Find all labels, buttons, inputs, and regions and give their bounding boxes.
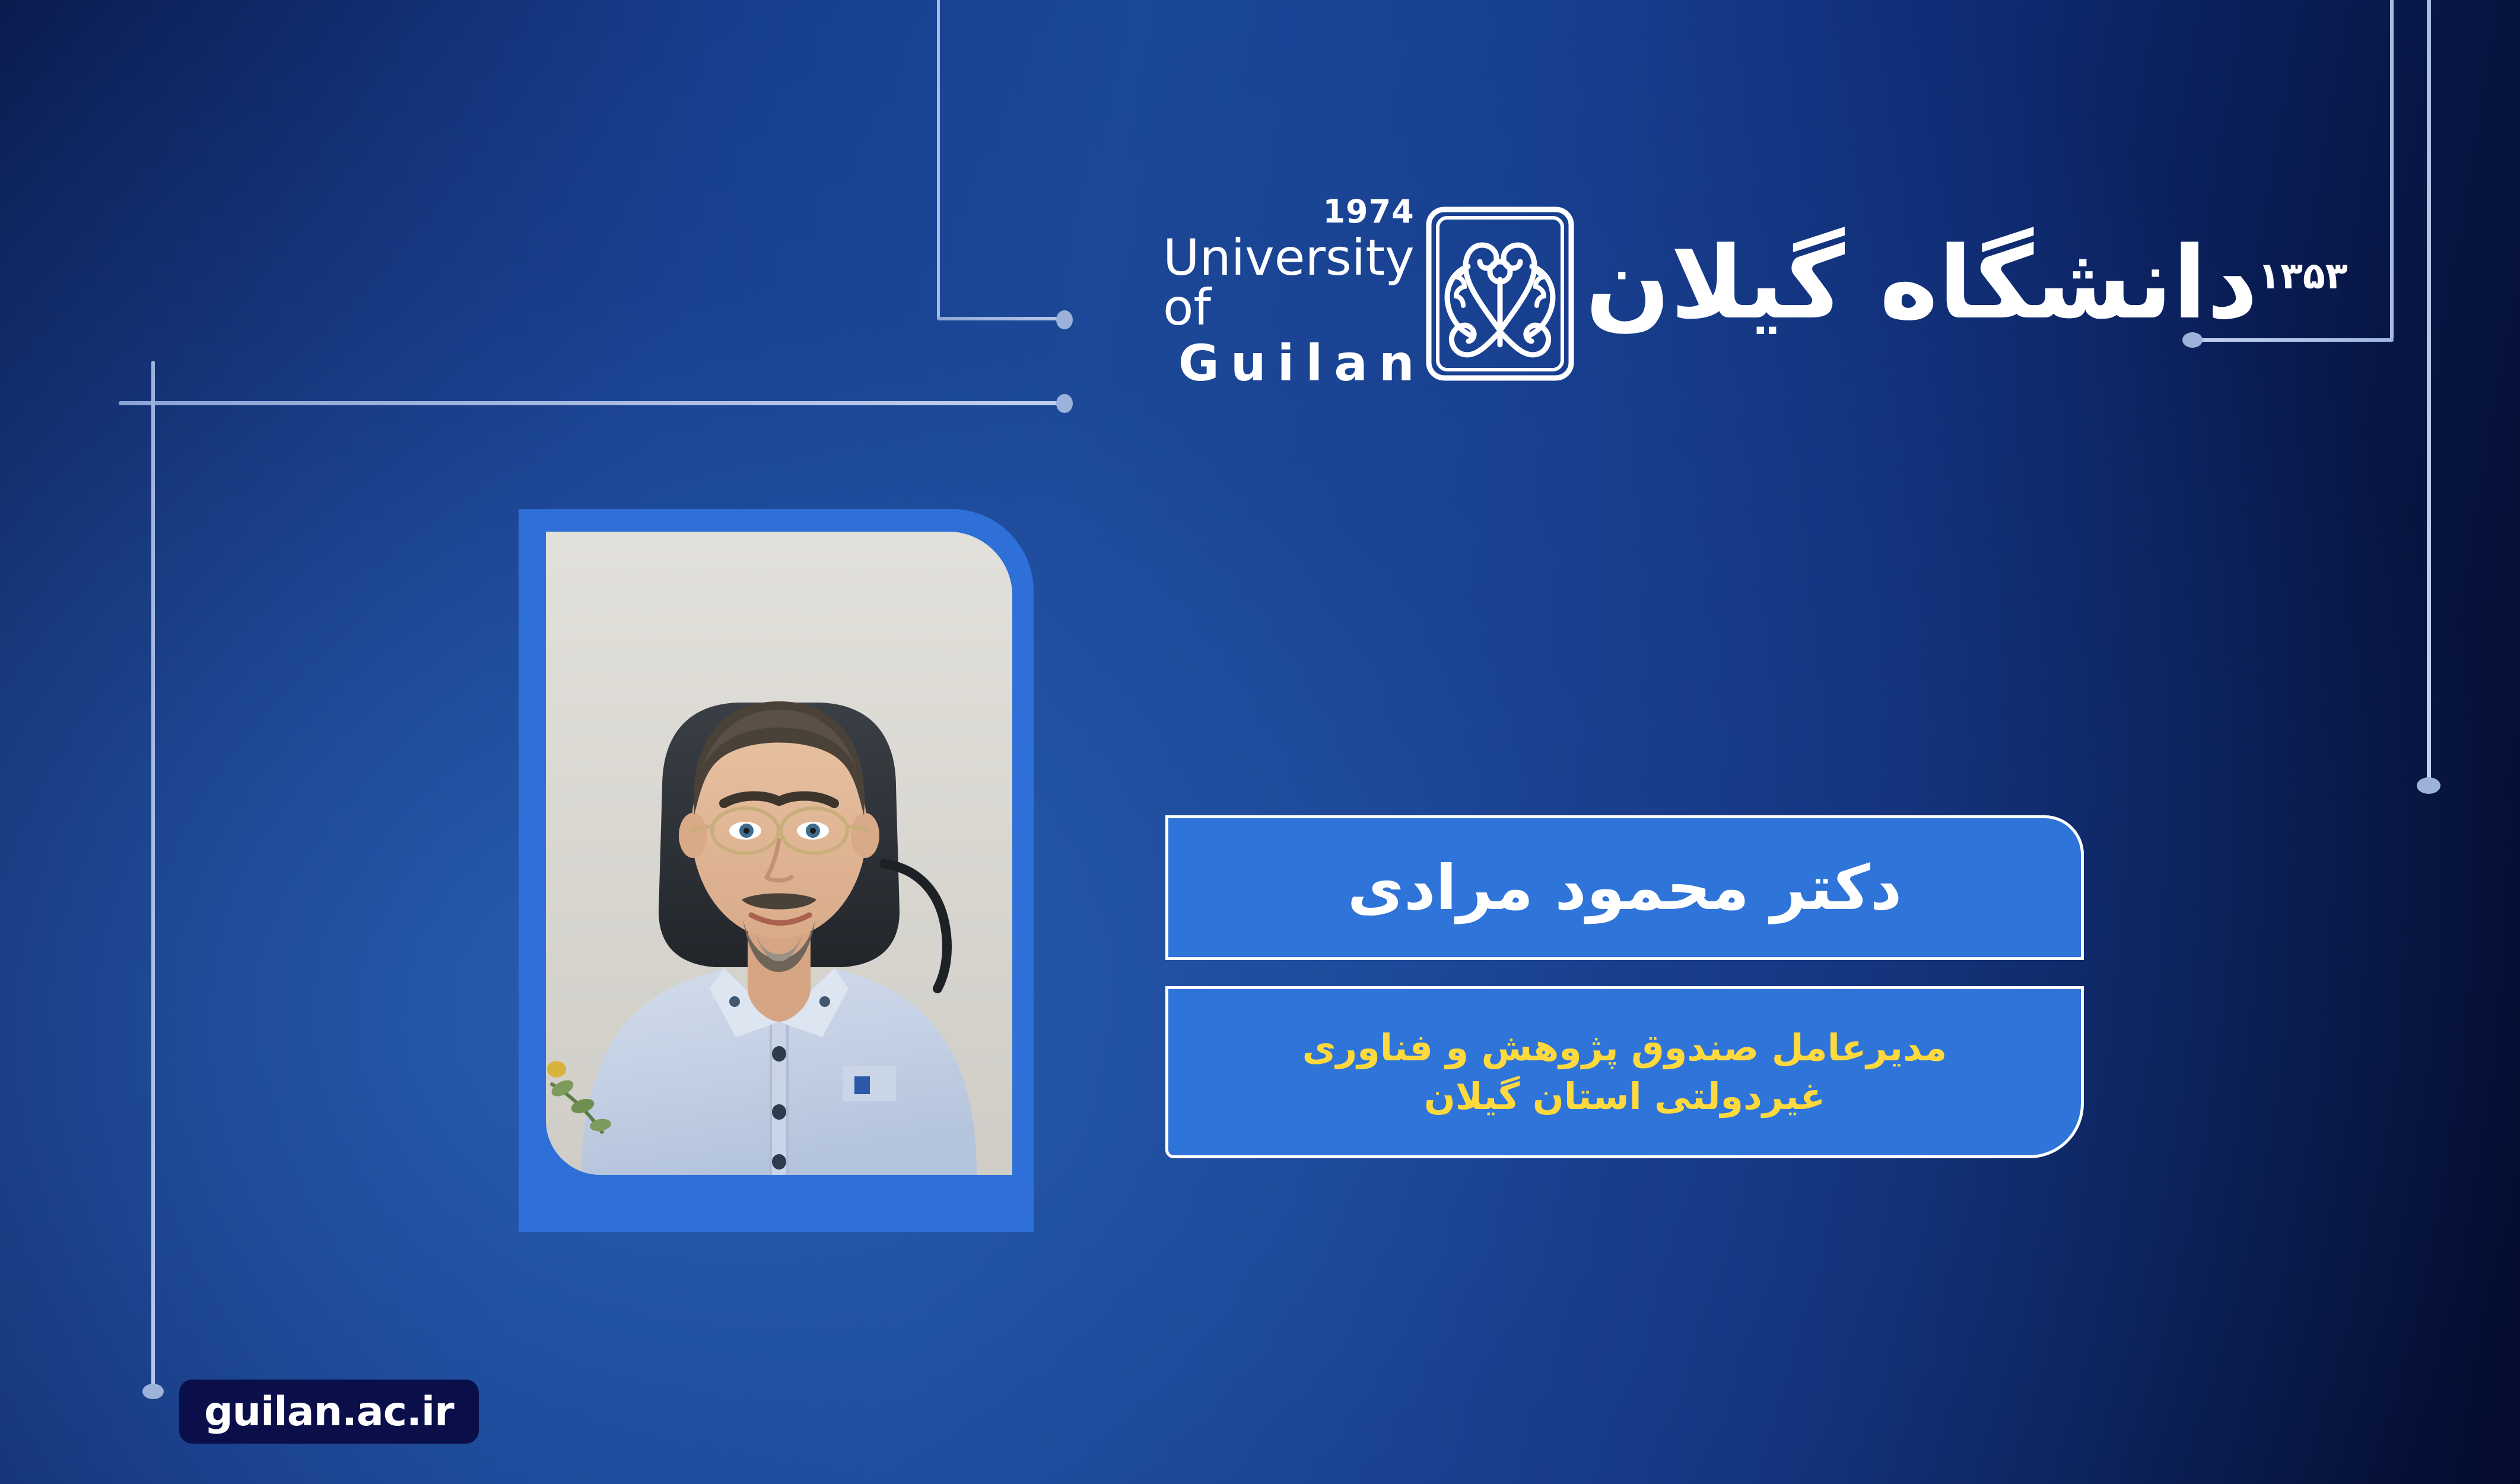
speaker-announcement-card: 1974 University of Guilan	[0, 0, 2520, 1484]
logo-university-word: University of	[1163, 233, 1415, 332]
deco-far-right-vertical-line	[2427, 0, 2431, 783]
speaker-title-line-1: مدیرعامل صندوق پژوهش و فناوری	[1302, 1024, 1947, 1072]
deco-left-horizontal-line	[119, 401, 1068, 405]
deco-top-left-horizontal-line	[937, 317, 1064, 320]
logo-founding-year-en: 1974	[1323, 196, 1414, 228]
university-logo-lockup: 1974 University of Guilan	[1163, 196, 2089, 392]
portrait-frame	[519, 509, 1034, 1232]
speaker-name-text: دکتر محمود مرادی	[1348, 854, 1902, 921]
logo-guilan-word: Guilan	[1178, 338, 1426, 388]
speaker-portrait-photo	[546, 532, 1012, 1175]
logo-english-block: 1974 University of Guilan	[1163, 196, 1415, 392]
logo-founding-year-fa: ۱۳۵۳	[2258, 254, 2347, 297]
guilan-university-emblem-icon	[1423, 205, 1577, 383]
speaker-title-line-2: غیردولتی استان گیلان	[1302, 1072, 1947, 1121]
deco-top-left-dot	[1056, 310, 1073, 329]
deco-left-horizontal-dot	[1056, 394, 1073, 413]
deco-far-right-dot	[2417, 777, 2440, 794]
logo-persian-block: ۱۳۵۳ دانشگاه گیلان	[1585, 233, 2356, 354]
speaker-title-badge: مدیرعامل صندوق پژوهش و فناوری غیردولتی ا…	[1165, 986, 2084, 1158]
logo-university-name-fa: دانشگاه گیلان	[1585, 233, 2258, 333]
deco-left-vertical-line	[151, 361, 155, 1393]
website-url-badge[interactable]: guilan.ac.ir	[179, 1380, 479, 1444]
deco-left-vertical-dot	[142, 1384, 164, 1399]
deco-top-right-vertical-line	[2390, 0, 2394, 339]
website-url-text: guilan.ac.ir	[204, 1388, 454, 1435]
deco-top-left-vertical-line	[937, 0, 940, 319]
speaker-name-badge: دکتر محمود مرادی	[1165, 815, 2084, 960]
